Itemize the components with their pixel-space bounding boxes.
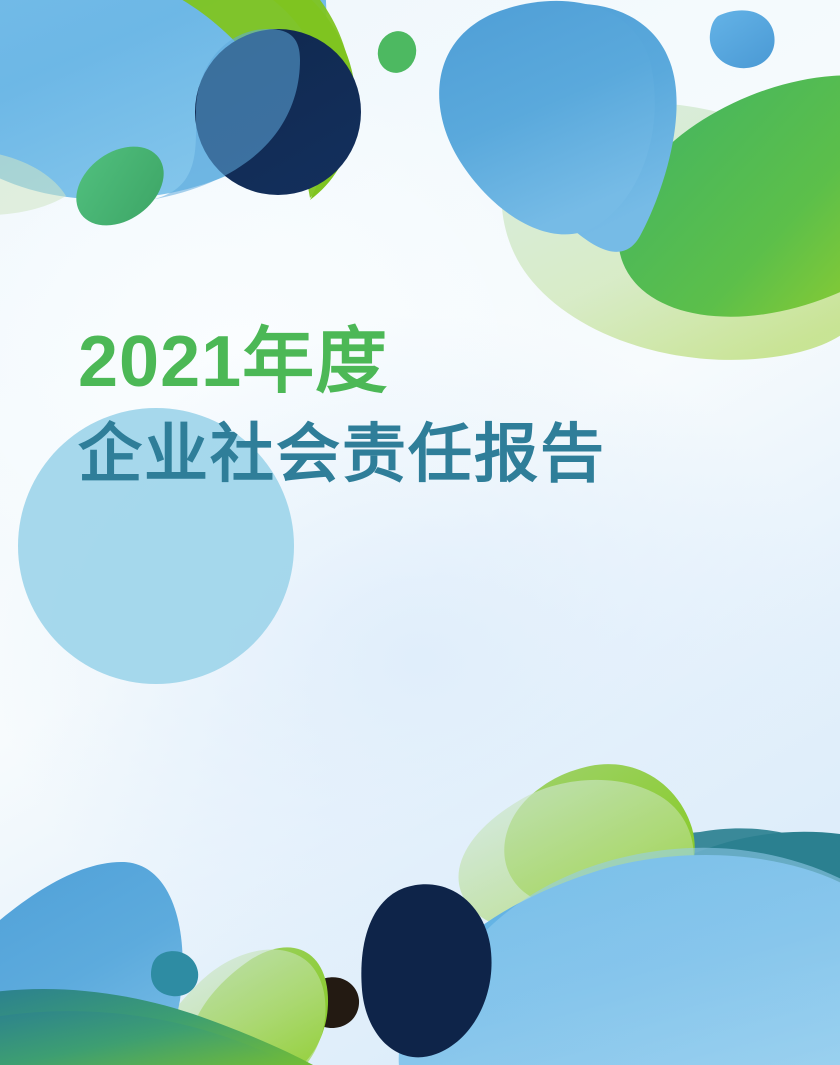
cover-title-year: 2021年度 xyxy=(78,326,778,399)
report-cover-page: 2021年度 企业社会责任报告 xyxy=(0,0,840,1065)
cover-title-main: 企业社会责任报告 xyxy=(78,421,778,488)
bottom-left-teal-dot xyxy=(151,951,198,996)
top-right-blue-blob-main xyxy=(439,1,655,234)
top-mid-green-dot xyxy=(372,26,421,78)
top-right-blue-teardrop xyxy=(710,10,775,68)
cover-title-block: 2021年度 企业社会责任报告 xyxy=(78,326,778,489)
decorative-blob-artwork xyxy=(0,0,840,1065)
